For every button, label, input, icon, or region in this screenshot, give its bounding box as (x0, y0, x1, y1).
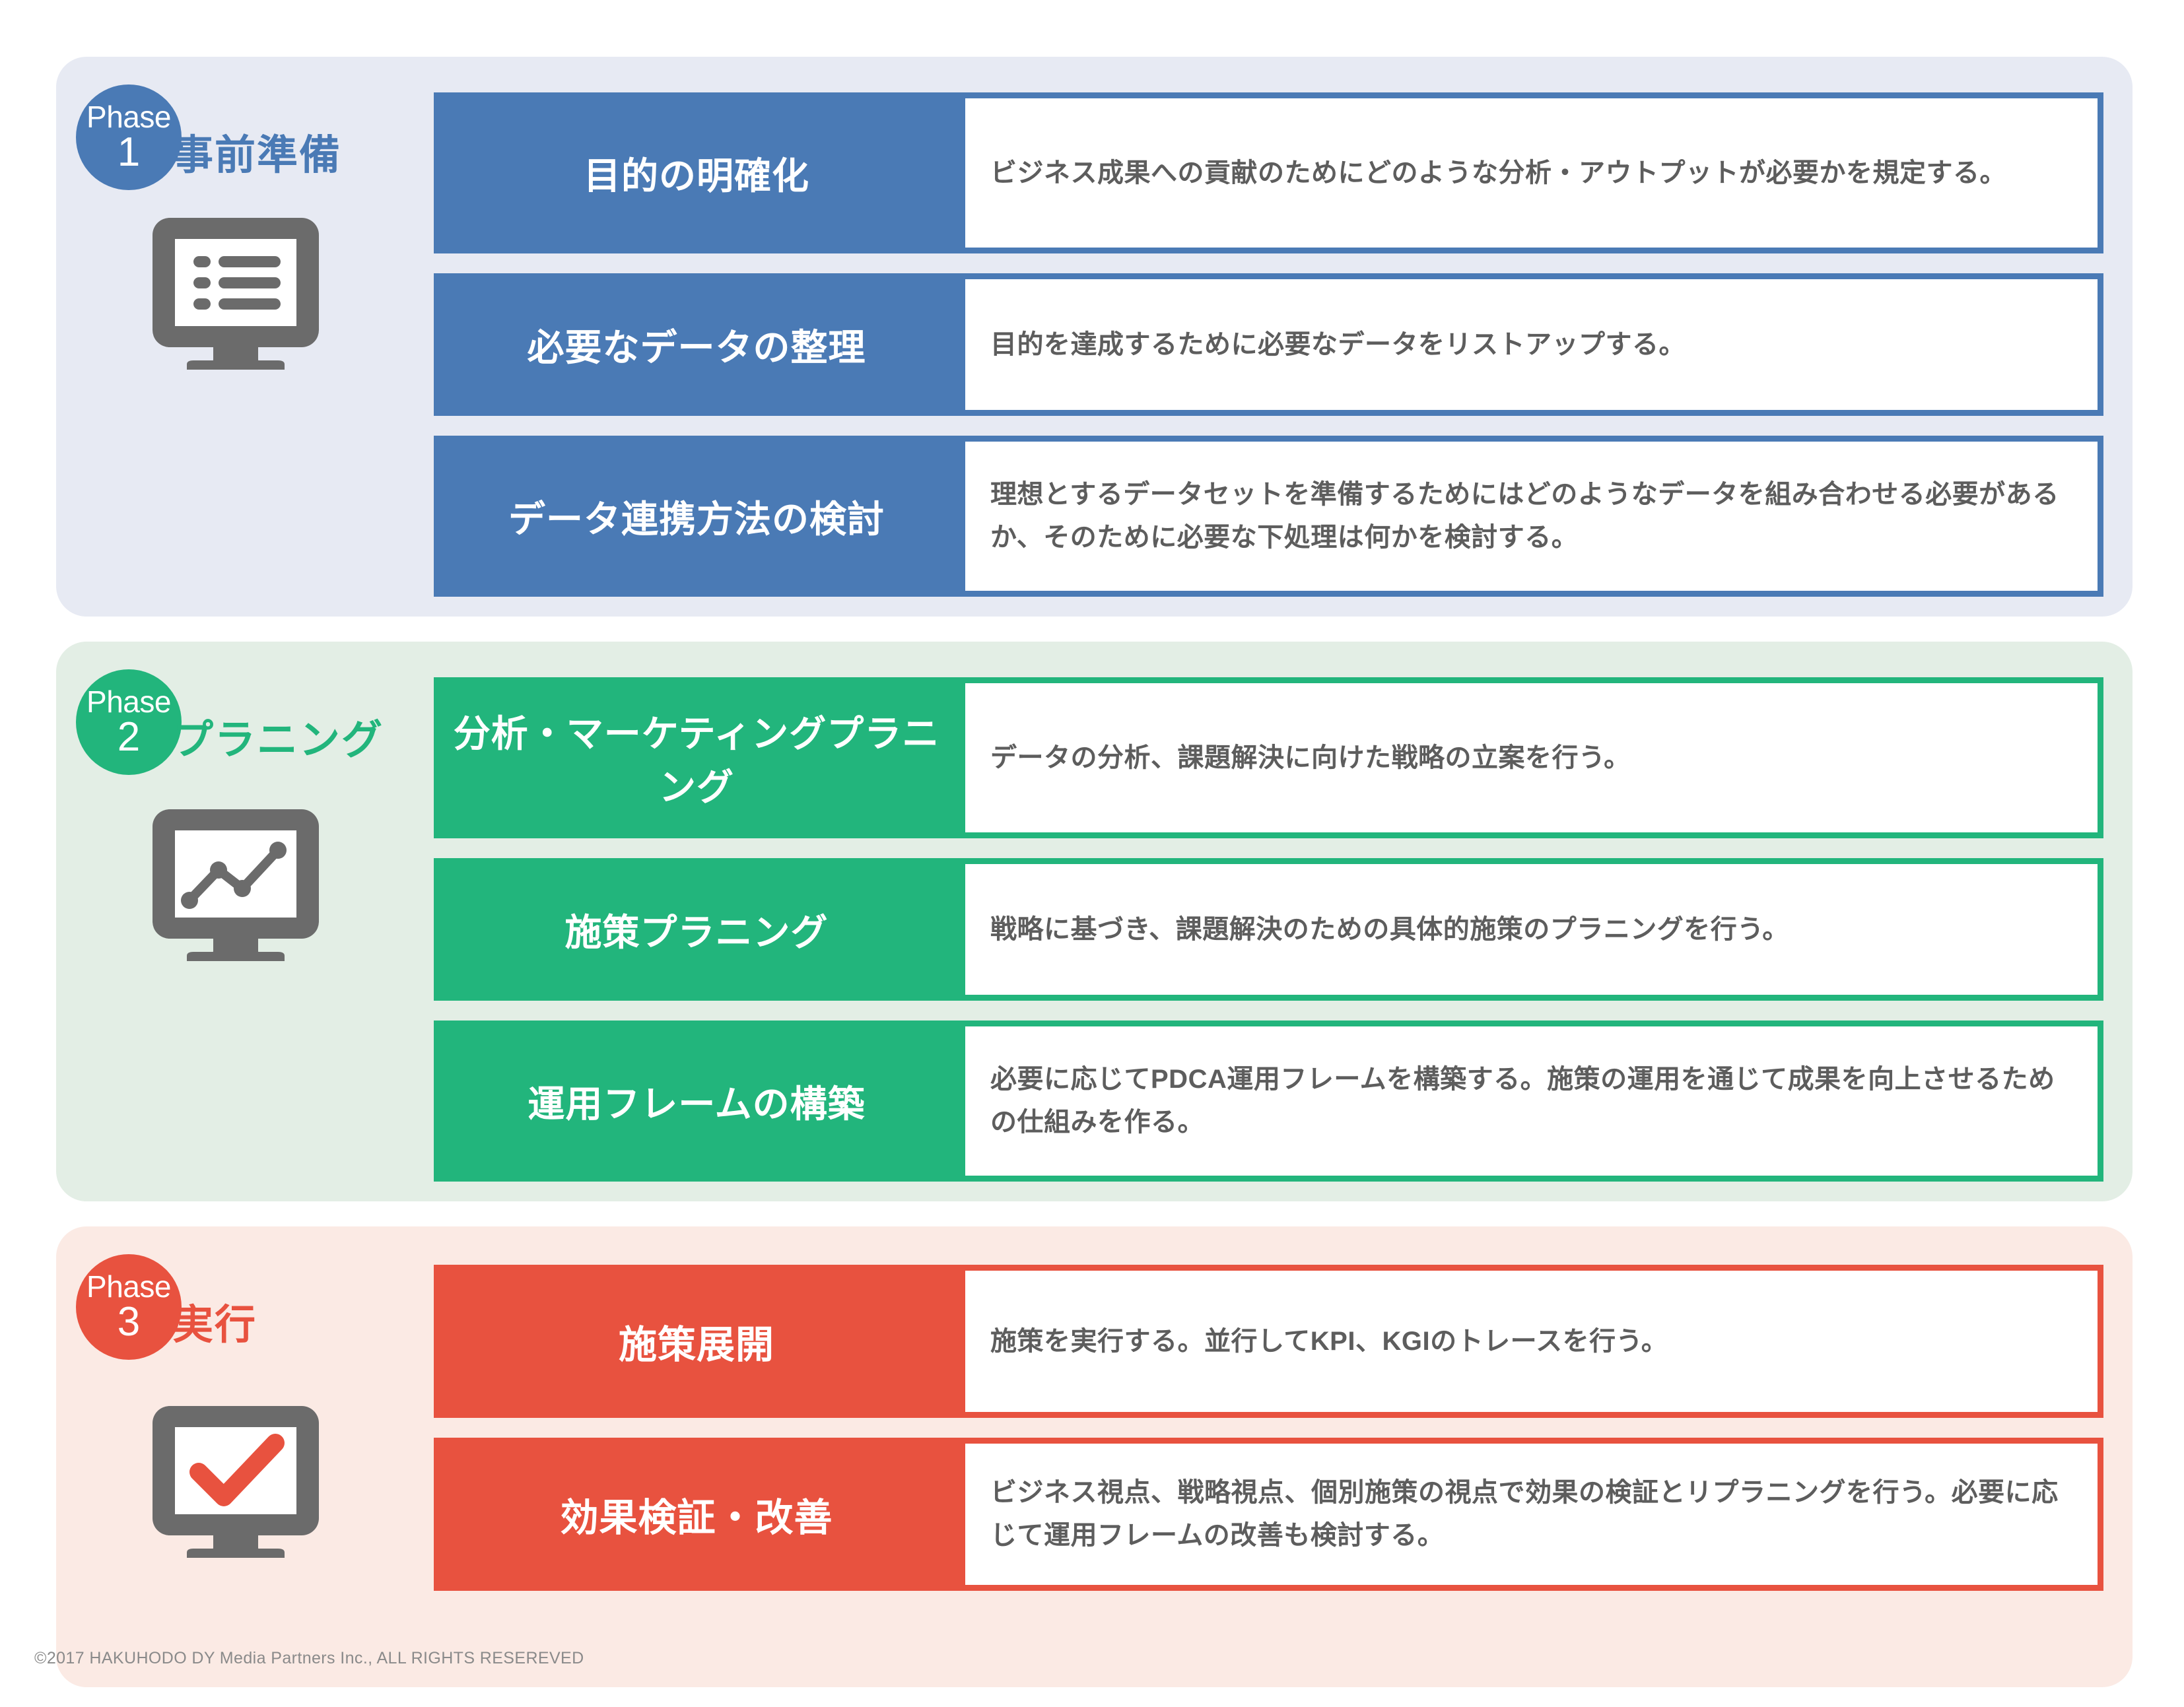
row-description: データの分析、課題解決に向けた戦略の立案を行う。 (959, 677, 2103, 838)
phase-2-badge: Phase 2 (76, 669, 182, 775)
monitor-list-icon (149, 215, 347, 380)
row-label: 効果検証・改善 (434, 1438, 959, 1591)
phase-3-header: Phase 3 実行 (56, 1226, 432, 1687)
phase-1-name: 事前準備 (172, 121, 341, 181)
row-description: 必要に応じてPDCA運用フレームを構築する。施策の運用を通じて成果を向上させるた… (959, 1021, 2103, 1182)
table-row: 効果検証・改善 ビジネス視点、戦略視点、個別施策の視点で効果の検証とリプラニング… (434, 1438, 2103, 1591)
row-description: 目的を達成するために必要なデータをリストアップする。 (959, 273, 2103, 416)
phase-panel-3: Phase 3 実行 施策展開 施策を実行する。並行してKPI、KGIのトレース… (56, 1226, 2133, 1687)
phase-2-badge-row: Phase 2 プラニング (76, 669, 384, 775)
row-label: 必要なデータの整理 (434, 273, 959, 416)
table-row: データ連携方法の検討 理想とするデータセットを準備するためにはどのようなデータを… (434, 436, 2103, 597)
table-row: 施策プラニング 戦略に基づき、課題解決のための具体的施策のプラニングを行う。 (434, 858, 2103, 1001)
phase-2-badge-word: Phase (86, 686, 171, 717)
phase-2-rows: 分析・マーケティングプラニング データの分析、課題解決に向けた戦略の立案を行う。… (434, 677, 2103, 1182)
table-row: 必要なデータの整理 目的を達成するために必要なデータをリストアップする。 (434, 273, 2103, 416)
phase-1-badge-row: Phase 1 事前準備 (76, 84, 341, 190)
table-row: 運用フレームの構築 必要に応じてPDCA運用フレームを構築する。施策の運用を通じ… (434, 1021, 2103, 1182)
row-description: 施策を実行する。並行してKPI、KGIのトレースを行う。 (959, 1265, 2103, 1418)
phase-3-badge-word: Phase (86, 1271, 171, 1302)
process-diagram-board: Phase 1 事前準備 (0, 0, 2184, 1707)
phase-1-rows: 目的の明確化 ビジネス成果への貢献のためにどのような分析・アウトプットが必要かを… (434, 92, 2103, 597)
phase-1-badge-number: 1 (118, 132, 140, 173)
row-label: 運用フレームの構築 (434, 1021, 959, 1182)
row-label: 分析・マーケティングプラニング (434, 677, 959, 838)
table-row: 目的の明確化 ビジネス成果への貢献のためにどのような分析・アウトプットが必要かを… (434, 92, 2103, 253)
row-description: ビジネス視点、戦略視点、個別施策の視点で効果の検証とリプラニングを行う。必要に応… (959, 1438, 2103, 1591)
phase-1-header: Phase 1 事前準備 (56, 57, 432, 617)
row-label: データ連携方法の検討 (434, 436, 959, 597)
table-row: 分析・マーケティングプラニング データの分析、課題解決に向けた戦略の立案を行う。 (434, 677, 2103, 838)
phase-panel-1: Phase 1 事前準備 (56, 57, 2133, 617)
phase-3-rows: 施策展開 施策を実行する。並行してKPI、KGIのトレースを行う。 効果検証・改… (434, 1265, 2103, 1591)
table-row: 施策展開 施策を実行する。並行してKPI、KGIのトレースを行う。 (434, 1265, 2103, 1418)
phase-2-header: Phase 2 プラニング (56, 642, 432, 1201)
phase-1-badge-word: Phase (86, 102, 171, 132)
phase-1-badge: Phase 1 (76, 84, 182, 190)
phase-panel-2: Phase 2 プラニング (56, 642, 2133, 1201)
monitor-check-icon (149, 1403, 347, 1568)
row-description: ビジネス成果への貢献のためにどのような分析・アウトプットが必要かを規定する。 (959, 92, 2103, 253)
copyright-notice: ©2017 HAKUHODO DY Media Partners Inc., A… (34, 1649, 584, 1668)
phase-3-badge: Phase 3 (76, 1254, 182, 1360)
phase-2-badge-number: 2 (118, 717, 140, 758)
phase-2-name: プラニング (172, 706, 384, 766)
row-label: 施策展開 (434, 1265, 959, 1418)
row-description: 戦略に基づき、課題解決のための具体的施策のプラニングを行う。 (959, 858, 2103, 1001)
phase-3-badge-number: 3 (118, 1302, 140, 1343)
row-description: 理想とするデータセットを準備するためにはどのようなデータを組み合わせる必要がある… (959, 436, 2103, 597)
row-label: 目的の明確化 (434, 92, 959, 253)
row-label: 施策プラニング (434, 858, 959, 1001)
monitor-linechart-icon (149, 807, 347, 972)
phase-3-name: 実行 (172, 1291, 257, 1351)
phase-3-badge-row: Phase 3 実行 (76, 1254, 257, 1360)
